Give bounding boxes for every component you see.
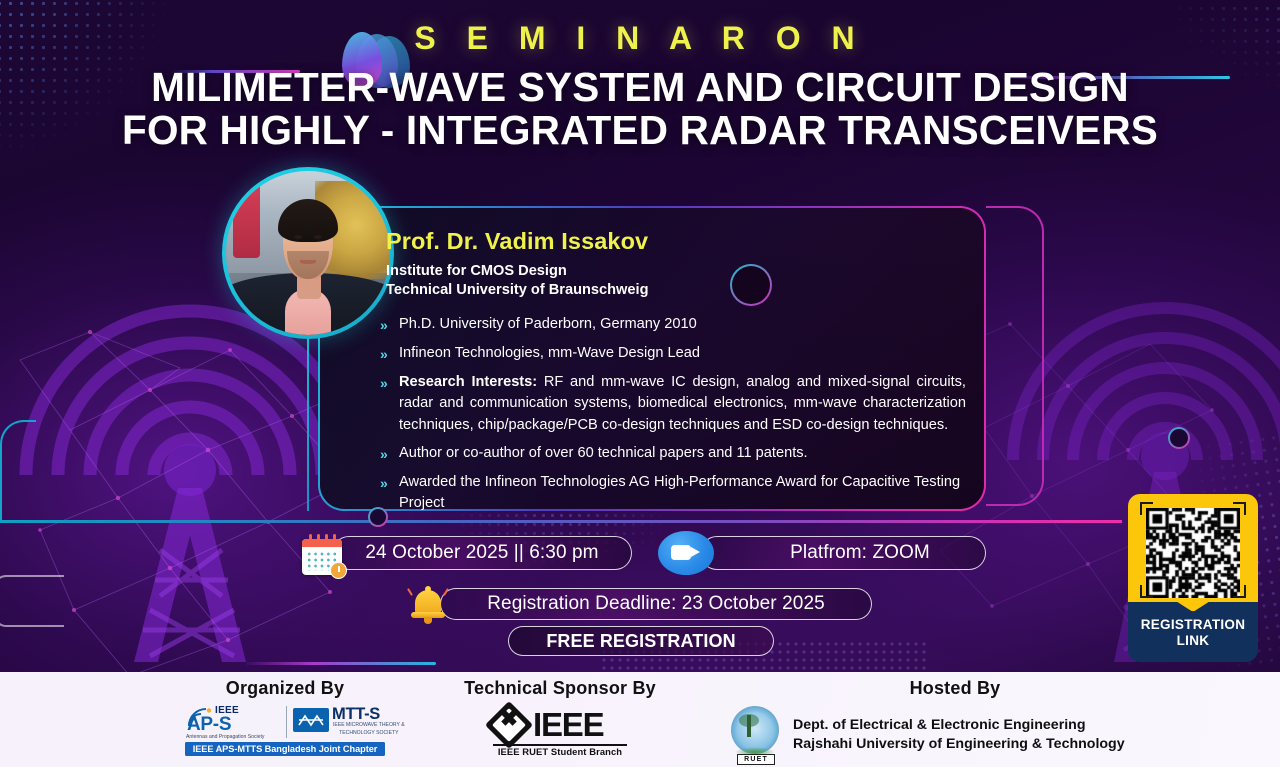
list-item-text: Infineon Technologies, mm-Wave Design Le…: [399, 343, 700, 364]
list-item-text: Author or co-author of over 60 technical…: [399, 443, 808, 464]
chevron-right-icon: »: [380, 372, 399, 394]
speaker-name: Prof. Dr. Vadim Issakov: [386, 228, 962, 255]
mtts-logo: MTT-S IEEE MICROWAVE THEORY & TECHNOLOGY…: [293, 705, 385, 739]
registration-deadline-pill: Registration Deadline: 23 October 2025: [440, 588, 872, 620]
aps-subtitle: Antennas and Propagation Society: [186, 734, 264, 740]
free-registration-badge: FREE REGISTRATION: [508, 626, 774, 656]
decorative-frame-right: [986, 206, 1044, 506]
calendar-icon: [300, 532, 348, 580]
speaker-affiliation-institute: Institute for CMOS Design: [386, 262, 962, 281]
qr-label-line-2: LINK: [1128, 633, 1258, 649]
event-datetime-pill: 24 October 2025 || 6:30 pm: [332, 536, 632, 570]
accent-rule-bottom-left: [246, 662, 436, 665]
ieee-wordmark: IEEE: [533, 705, 603, 745]
qr-bracket-bottom-right: [1233, 585, 1246, 598]
poster-header: S E M I N A R O N MILIMETER-WAVE SYSTEM …: [0, 0, 1280, 152]
avatar: [222, 167, 394, 339]
title-line-1: MILIMETER-WAVE SYSTEM AND CIRCUIT DESIGN: [0, 66, 1280, 109]
organized-by-heading: Organized By: [150, 678, 420, 699]
ieee-logo: IEEE IEEE RUET Student Branch: [485, 706, 635, 758]
mtts-subtitle-line-2: TECHNOLOGY SOCIETY: [333, 730, 405, 738]
qr-code-canvas[interactable]: [1146, 508, 1240, 598]
list-item: »Infineon Technologies, mm-Wave Design L…: [380, 343, 966, 365]
technical-sponsor-section: Technical Sponsor By IEEE IEEE RUET Stud…: [430, 678, 690, 758]
list-item: »Research Interests: RF and mm-wave IC d…: [380, 372, 966, 436]
aps-logo: IEEE AP-S Antennas and Propagation Socie…: [185, 704, 282, 740]
video-camera-icon: [658, 531, 714, 575]
mtts-mark-icon: [293, 708, 329, 732]
logo-divider: [286, 706, 287, 738]
bell-icon: [406, 582, 450, 626]
technical-sponsor-heading: Technical Sponsor By: [430, 678, 690, 699]
ieee-diamond-icon: [485, 701, 533, 749]
list-item-text: Awarded the Infineon Technologies AG Hig…: [399, 472, 966, 515]
ieee-aps-mtts-logo: IEEE AP-S Antennas and Propagation Socie…: [185, 704, 385, 756]
qr-code-image[interactable]: [1146, 508, 1240, 598]
list-item-text: Ph.D. University of Paderborn, Germany 2…: [399, 314, 697, 335]
poster-footer: Organized By IEEE AP-S Antennas and Prop…: [0, 672, 1280, 767]
speaker-affiliation-university: Technical University of Braunschweig: [386, 281, 962, 300]
aps-name: AP-S: [187, 714, 231, 736]
neon-divider-line: [0, 520, 1122, 523]
organized-by-section: Organized By IEEE AP-S Antennas and Prop…: [150, 678, 420, 756]
neon-ring-right: [1168, 427, 1190, 449]
neon-corner-left: [0, 420, 36, 522]
radar-tower-icon-left: [10, 300, 370, 665]
chapter-banner: IEEE APS-MTTS Bangladesh Joint Chapter: [185, 742, 385, 756]
page-title: MILIMETER-WAVE SYSTEM AND CIRCUIT DESIGN…: [0, 66, 1280, 152]
mtts-subtitle: IEEE MICROWAVE THEORY & TECHNOLOGY SOCIE…: [333, 722, 405, 737]
speaker-identity: Prof. Dr. Vadim Issakov Institute for CM…: [386, 228, 962, 301]
list-item: »Ph.D. University of Paderborn, Germany …: [380, 314, 966, 336]
list-item-text: Research Interests: RF and mm-wave IC de…: [399, 372, 966, 436]
qr-bracket-top-right: [1233, 502, 1246, 515]
qr-label-line-1: REGISTRATION: [1128, 617, 1258, 633]
photo-connector-line: [307, 339, 309, 511]
mtts-subtitle-line-1: IEEE MICROWAVE THEORY &: [333, 722, 405, 730]
hosted-by-row: RUET Dept. of Electrical & Electronic En…: [726, 704, 1125, 766]
chevron-right-icon: »: [380, 314, 399, 336]
hosted-dept-line: Dept. of Electrical & Electronic Enginee…: [793, 716, 1125, 735]
seminar-poster: S E M I N A R O N MILIMETER-WAVE SYSTEM …: [0, 0, 1280, 767]
hosted-by-text: Dept. of Electrical & Electronic Enginee…: [793, 716, 1125, 755]
qr-bracket-bottom-left: [1140, 585, 1153, 598]
speaker-portrait-image: [226, 171, 390, 335]
eyebrow-text: S E M I N A R O N: [0, 22, 1280, 54]
registration-qr-block[interactable]: REGISTRATION LINK: [1128, 494, 1258, 662]
event-platform-pill: Platfrom: ZOOM: [700, 536, 986, 570]
ruet-wordmark: RUET: [737, 754, 775, 765]
list-item: »Awarded the Infineon Technologies AG Hi…: [380, 472, 966, 515]
hosted-by-heading: Hosted By: [720, 678, 1190, 699]
hosted-by-section: Hosted By RUET Dept. of Electrical & Ele…: [720, 678, 1190, 699]
list-item: »Author or co-author of over 60 technica…: [380, 443, 966, 465]
qr-bracket-top-left: [1140, 502, 1153, 515]
hosted-university-line: Rajshahi University of Engineering & Tec…: [793, 735, 1125, 754]
chevron-right-icon: »: [380, 472, 399, 494]
list-item-label: Research Interests:: [399, 374, 537, 390]
qr-label: REGISTRATION LINK: [1128, 602, 1258, 662]
speaker-credentials-list: »Ph.D. University of Paderborn, Germany …: [380, 314, 966, 514]
chevron-right-icon: »: [380, 443, 399, 465]
title-line-2: FOR HIGHLY - INTEGRATED RADAR TRANSCEIVE…: [0, 109, 1280, 152]
chevron-right-icon: »: [380, 343, 399, 365]
qr-card[interactable]: [1128, 494, 1258, 611]
ruet-logo: RUET: [726, 704, 784, 766]
ieee-branch-name: IEEE RUET Student Branch: [485, 746, 635, 757]
decorative-frame-left-lower: [0, 575, 64, 627]
